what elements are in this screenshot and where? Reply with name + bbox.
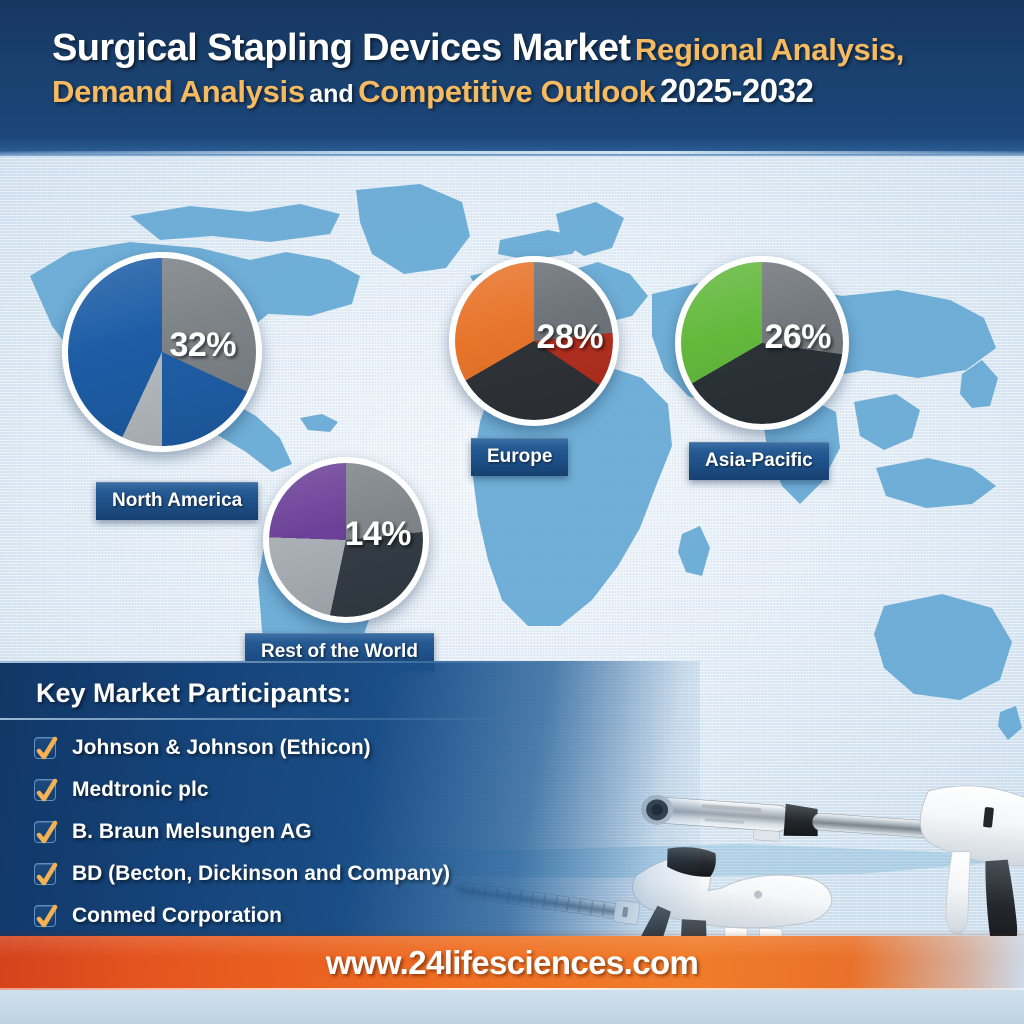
- participants-list: Johnson & Johnson (Ethicon) Medtronic pl…: [34, 727, 554, 936]
- list-item[interactable]: BD (Becton, Dickinson and Company): [34, 853, 554, 895]
- pie-disc: 28%: [449, 256, 619, 426]
- panel-heading: Key Market Participants:: [36, 678, 351, 709]
- title-accent-2: Demand Analysis: [52, 74, 305, 109]
- panel-heading-divider: [0, 718, 510, 720]
- list-item[interactable]: Conmed Corporation: [34, 895, 554, 936]
- checkbox-checked-icon[interactable]: [34, 737, 56, 759]
- participant-name: B. Braun Melsungen AG: [72, 820, 312, 844]
- pie-region-label: North America: [96, 482, 258, 520]
- checkbox-checked-icon[interactable]: [34, 779, 56, 801]
- checkbox-checked-icon[interactable]: [34, 905, 56, 927]
- list-item[interactable]: Johnson & Johnson (Ethicon): [34, 727, 554, 769]
- participant-name: Conmed Corporation: [72, 904, 282, 928]
- page-title: Surgical Stapling Devices Market Regiona…: [52, 26, 994, 111]
- pie-chart-north-america: 32% North America: [62, 252, 262, 452]
- title-main: Surgical Stapling Devices Market: [52, 27, 630, 69]
- header-banner: Surgical Stapling Devices Market Regiona…: [0, 0, 1024, 156]
- pie-value-label: 26%: [764, 318, 831, 357]
- pie-disc: 32%: [62, 252, 262, 452]
- title-connector: and: [309, 80, 353, 108]
- participant-name: Medtronic plc: [72, 778, 209, 802]
- checkbox-checked-icon[interactable]: [34, 863, 56, 885]
- panel-top-divider: [0, 661, 560, 663]
- footer-bottom-strip: [0, 990, 1024, 1024]
- title-line-1: Surgical Stapling Devices Market Regiona…: [52, 26, 994, 71]
- footer-url[interactable]: www.24lifesciences.com: [0, 944, 1024, 982]
- title-line-2: Demand Analysis and Competitive Outlook …: [52, 71, 994, 111]
- title-accent-3: Competitive Outlook: [358, 74, 655, 109]
- pie-chart-rest-of-world: 14% Rest of the World: [263, 457, 429, 623]
- participant-name: Johnson & Johnson (Ethicon): [72, 736, 371, 760]
- pie-disc: 26%: [675, 256, 849, 430]
- pie-chart-europe: 28% Europe: [449, 256, 619, 426]
- key-participants-panel: Key Market Participants: Johnson & Johns…: [0, 661, 700, 936]
- list-item[interactable]: B. Braun Melsungen AG: [34, 811, 554, 853]
- title-years: 2025-2032: [660, 72, 813, 109]
- pie-region-label: Europe: [471, 438, 568, 476]
- title-accent-1: Regional Analysis,: [635, 32, 904, 67]
- pie-value-label: 14%: [344, 515, 411, 554]
- pie-disc: 14%: [263, 457, 429, 623]
- pie-value-label: 32%: [169, 326, 236, 365]
- infographic-root: Surgical Stapling Devices Market Regiona…: [0, 0, 1024, 1024]
- list-item[interactable]: Medtronic plc: [34, 769, 554, 811]
- pie-chart-asia-pacific: 26% Asia-Pacific: [675, 256, 849, 430]
- map-background: 32% North America 28% Europe 26% Asia-Pa…: [0, 156, 1024, 936]
- participant-name: BD (Becton, Dickinson and Company): [72, 862, 450, 886]
- pie-region-label: Asia-Pacific: [689, 442, 829, 480]
- checkbox-checked-icon[interactable]: [34, 821, 56, 843]
- pie-value-label: 28%: [536, 318, 603, 357]
